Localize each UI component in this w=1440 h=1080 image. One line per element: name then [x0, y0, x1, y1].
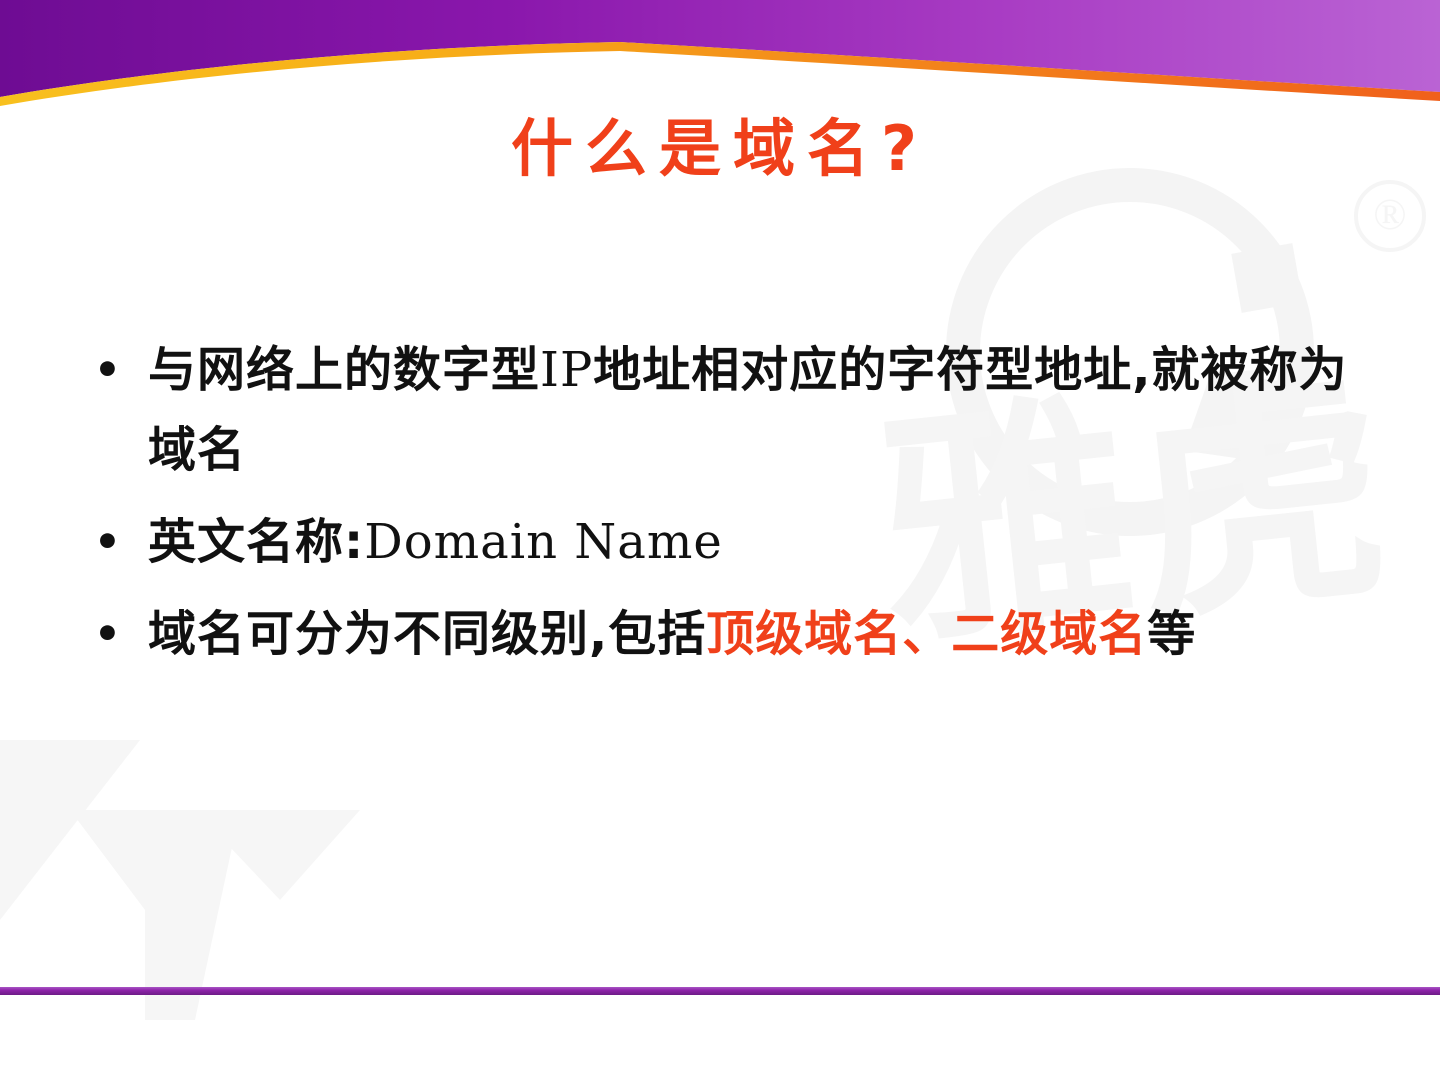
presentation-slide: ® 雅虎 什么是域名? [0, 0, 1440, 1080]
bullet-marker-icon: • [94, 502, 122, 582]
bullet-marker-icon: • [94, 594, 122, 674]
bullet-segment: 与网络上的数字型 [148, 342, 540, 398]
list-item: • 与网络上的数字型IP地址相对应的字符型地址,就被称为域名 [86, 330, 1376, 490]
registered-trademark-watermark-icon: ® [1354, 180, 1426, 252]
brand-letter-y-watermark-icon [0, 720, 400, 1020]
bullet-marker-icon: • [94, 330, 122, 410]
bullet-segment: 域名可分为不同级别,包括 [148, 606, 706, 662]
footer-rule [0, 987, 1440, 995]
bullet-segment: 等 [1147, 606, 1196, 662]
bullet-segment: 英文名称: [148, 514, 364, 570]
page-title: 什么是域名? [0, 98, 1440, 188]
list-item: • 域名可分为不同级别,包括顶级域名、二级域名等 [86, 594, 1376, 674]
bullet-list: • 与网络上的数字型IP地址相对应的字符型地址,就被称为域名 • 英文名称:Do… [86, 330, 1376, 686]
yahoo-exclamation-dot-watermark-icon [1231, 243, 1302, 313]
bullet-segment-highlight: 二级域名 [951, 606, 1147, 662]
bullet-segment-latin: IP [540, 342, 593, 398]
bullet-segment-latin: Domain Name [364, 514, 723, 570]
bullet-segment-highlight: 顶级域名 [706, 606, 902, 662]
list-item: • 英文名称:Domain Name [86, 502, 1376, 582]
bullet-segment-highlight: 、 [902, 606, 951, 662]
